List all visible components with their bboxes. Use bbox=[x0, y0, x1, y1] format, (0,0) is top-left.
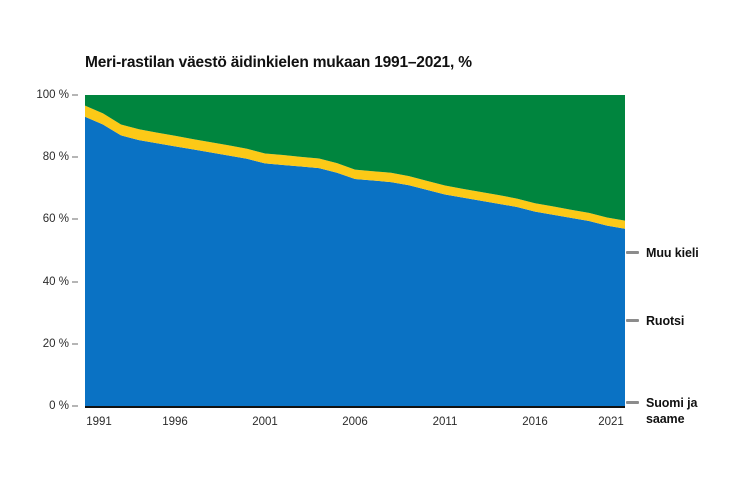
y-axis-tick-label: 0 % bbox=[49, 400, 69, 412]
x-axis-tick-label: 1996 bbox=[162, 416, 188, 428]
x-axis-tick-label: 2006 bbox=[342, 416, 368, 428]
legend-label: Suomi ja saame bbox=[646, 395, 697, 427]
y-axis-tick-mark bbox=[72, 281, 78, 282]
x-axis-tick-label: 2001 bbox=[252, 416, 278, 428]
y-axis: 100 %80 %60 %40 %20 %0 % bbox=[0, 88, 80, 418]
chart-container: Meri-rastilan väestö äidinkielen mukaan … bbox=[0, 0, 735, 490]
y-axis-tick-label: 60 % bbox=[43, 213, 69, 225]
chart-title: Meri-rastilan väestö äidinkielen mukaan … bbox=[85, 54, 472, 72]
legend-label: Ruotsi bbox=[646, 313, 684, 329]
legend-item-suomi-ja-saame[interactable]: Suomi ja saame bbox=[626, 395, 697, 427]
x-axis-tick-label: 2016 bbox=[522, 416, 548, 428]
plot-area bbox=[85, 95, 625, 406]
legend-dash-icon bbox=[626, 251, 639, 254]
chart-legend: Muu kieliRuotsiSuomi ja saame bbox=[626, 95, 731, 406]
y-axis-tick-mark bbox=[72, 219, 78, 220]
legend-dash-icon bbox=[626, 319, 639, 322]
legend-item-ruotsi[interactable]: Ruotsi bbox=[626, 313, 684, 329]
legend-dash-icon bbox=[626, 401, 639, 404]
y-axis-tick-label: 80 % bbox=[43, 151, 69, 163]
y-axis-tick-mark bbox=[72, 343, 78, 344]
y-axis-tick-mark bbox=[72, 157, 78, 158]
x-axis-line bbox=[85, 406, 625, 408]
legend-item-muu-kieli[interactable]: Muu kieli bbox=[626, 245, 699, 261]
x-axis: 1991199620012006201120162021 bbox=[85, 406, 625, 436]
x-axis-tick-label: 2011 bbox=[433, 416, 458, 428]
legend-label: Muu kieli bbox=[646, 245, 699, 261]
y-axis-tick-mark bbox=[72, 406, 78, 407]
x-axis-tick-label: 1991 bbox=[86, 416, 112, 428]
y-axis-tick-label: 20 % bbox=[43, 338, 69, 350]
y-axis-tick-label: 100 % bbox=[36, 89, 69, 101]
y-axis-tick-label: 40 % bbox=[43, 276, 69, 288]
stacked-area-plot bbox=[85, 95, 625, 406]
y-axis-tick-mark bbox=[72, 95, 78, 96]
x-axis-tick-label: 2021 bbox=[598, 416, 624, 428]
